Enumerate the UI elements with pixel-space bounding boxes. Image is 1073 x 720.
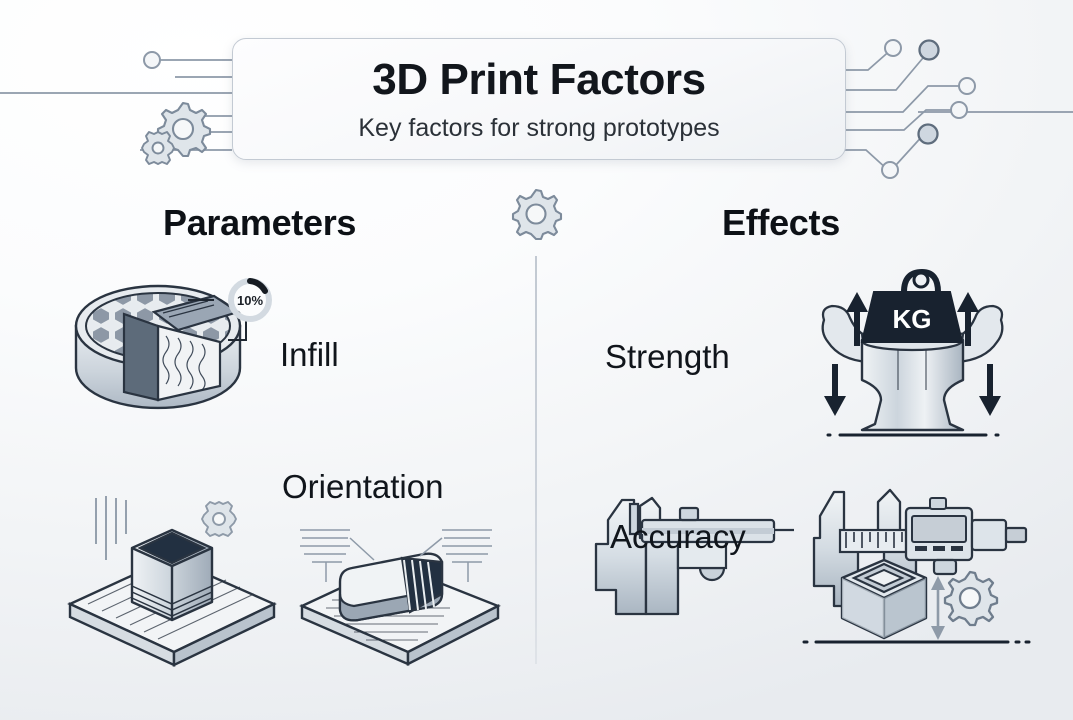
horizontal-orientation-icon [292,508,517,660]
column-divider [535,256,537,664]
caliper-icon [582,486,802,646]
gear-icon [138,128,178,168]
item-label-strength: Strength [605,338,730,376]
title-card: 3D Print Factors Key factors for strong … [232,38,846,160]
vertical-orientation-icon [62,486,292,661]
digital-caliper-icon [800,480,1050,655]
section-heading-effects: Effects [722,202,840,244]
item-label-orientation: Orientation [282,468,443,506]
page-subtitle: Key factors for strong prototypes [358,116,719,141]
page-title: 3D Print Factors [372,58,705,102]
infill-percentage-value: 10% [237,293,263,308]
infill-percentage-badge: 10% [222,272,278,328]
strength-weight-icon: KG [818,258,1013,443]
weight-label: KG [893,304,932,334]
item-label-accuracy: Accuracy [610,518,746,556]
section-heading-parameters: Parameters [163,202,356,244]
circuit-trace-icon [838,20,1073,170]
item-label-infill: Infill [280,336,339,374]
gear-icon [198,498,240,540]
infographic-canvas: 3D Print Factors Key factors for strong … [0,0,1073,720]
gear-icon [508,186,564,242]
